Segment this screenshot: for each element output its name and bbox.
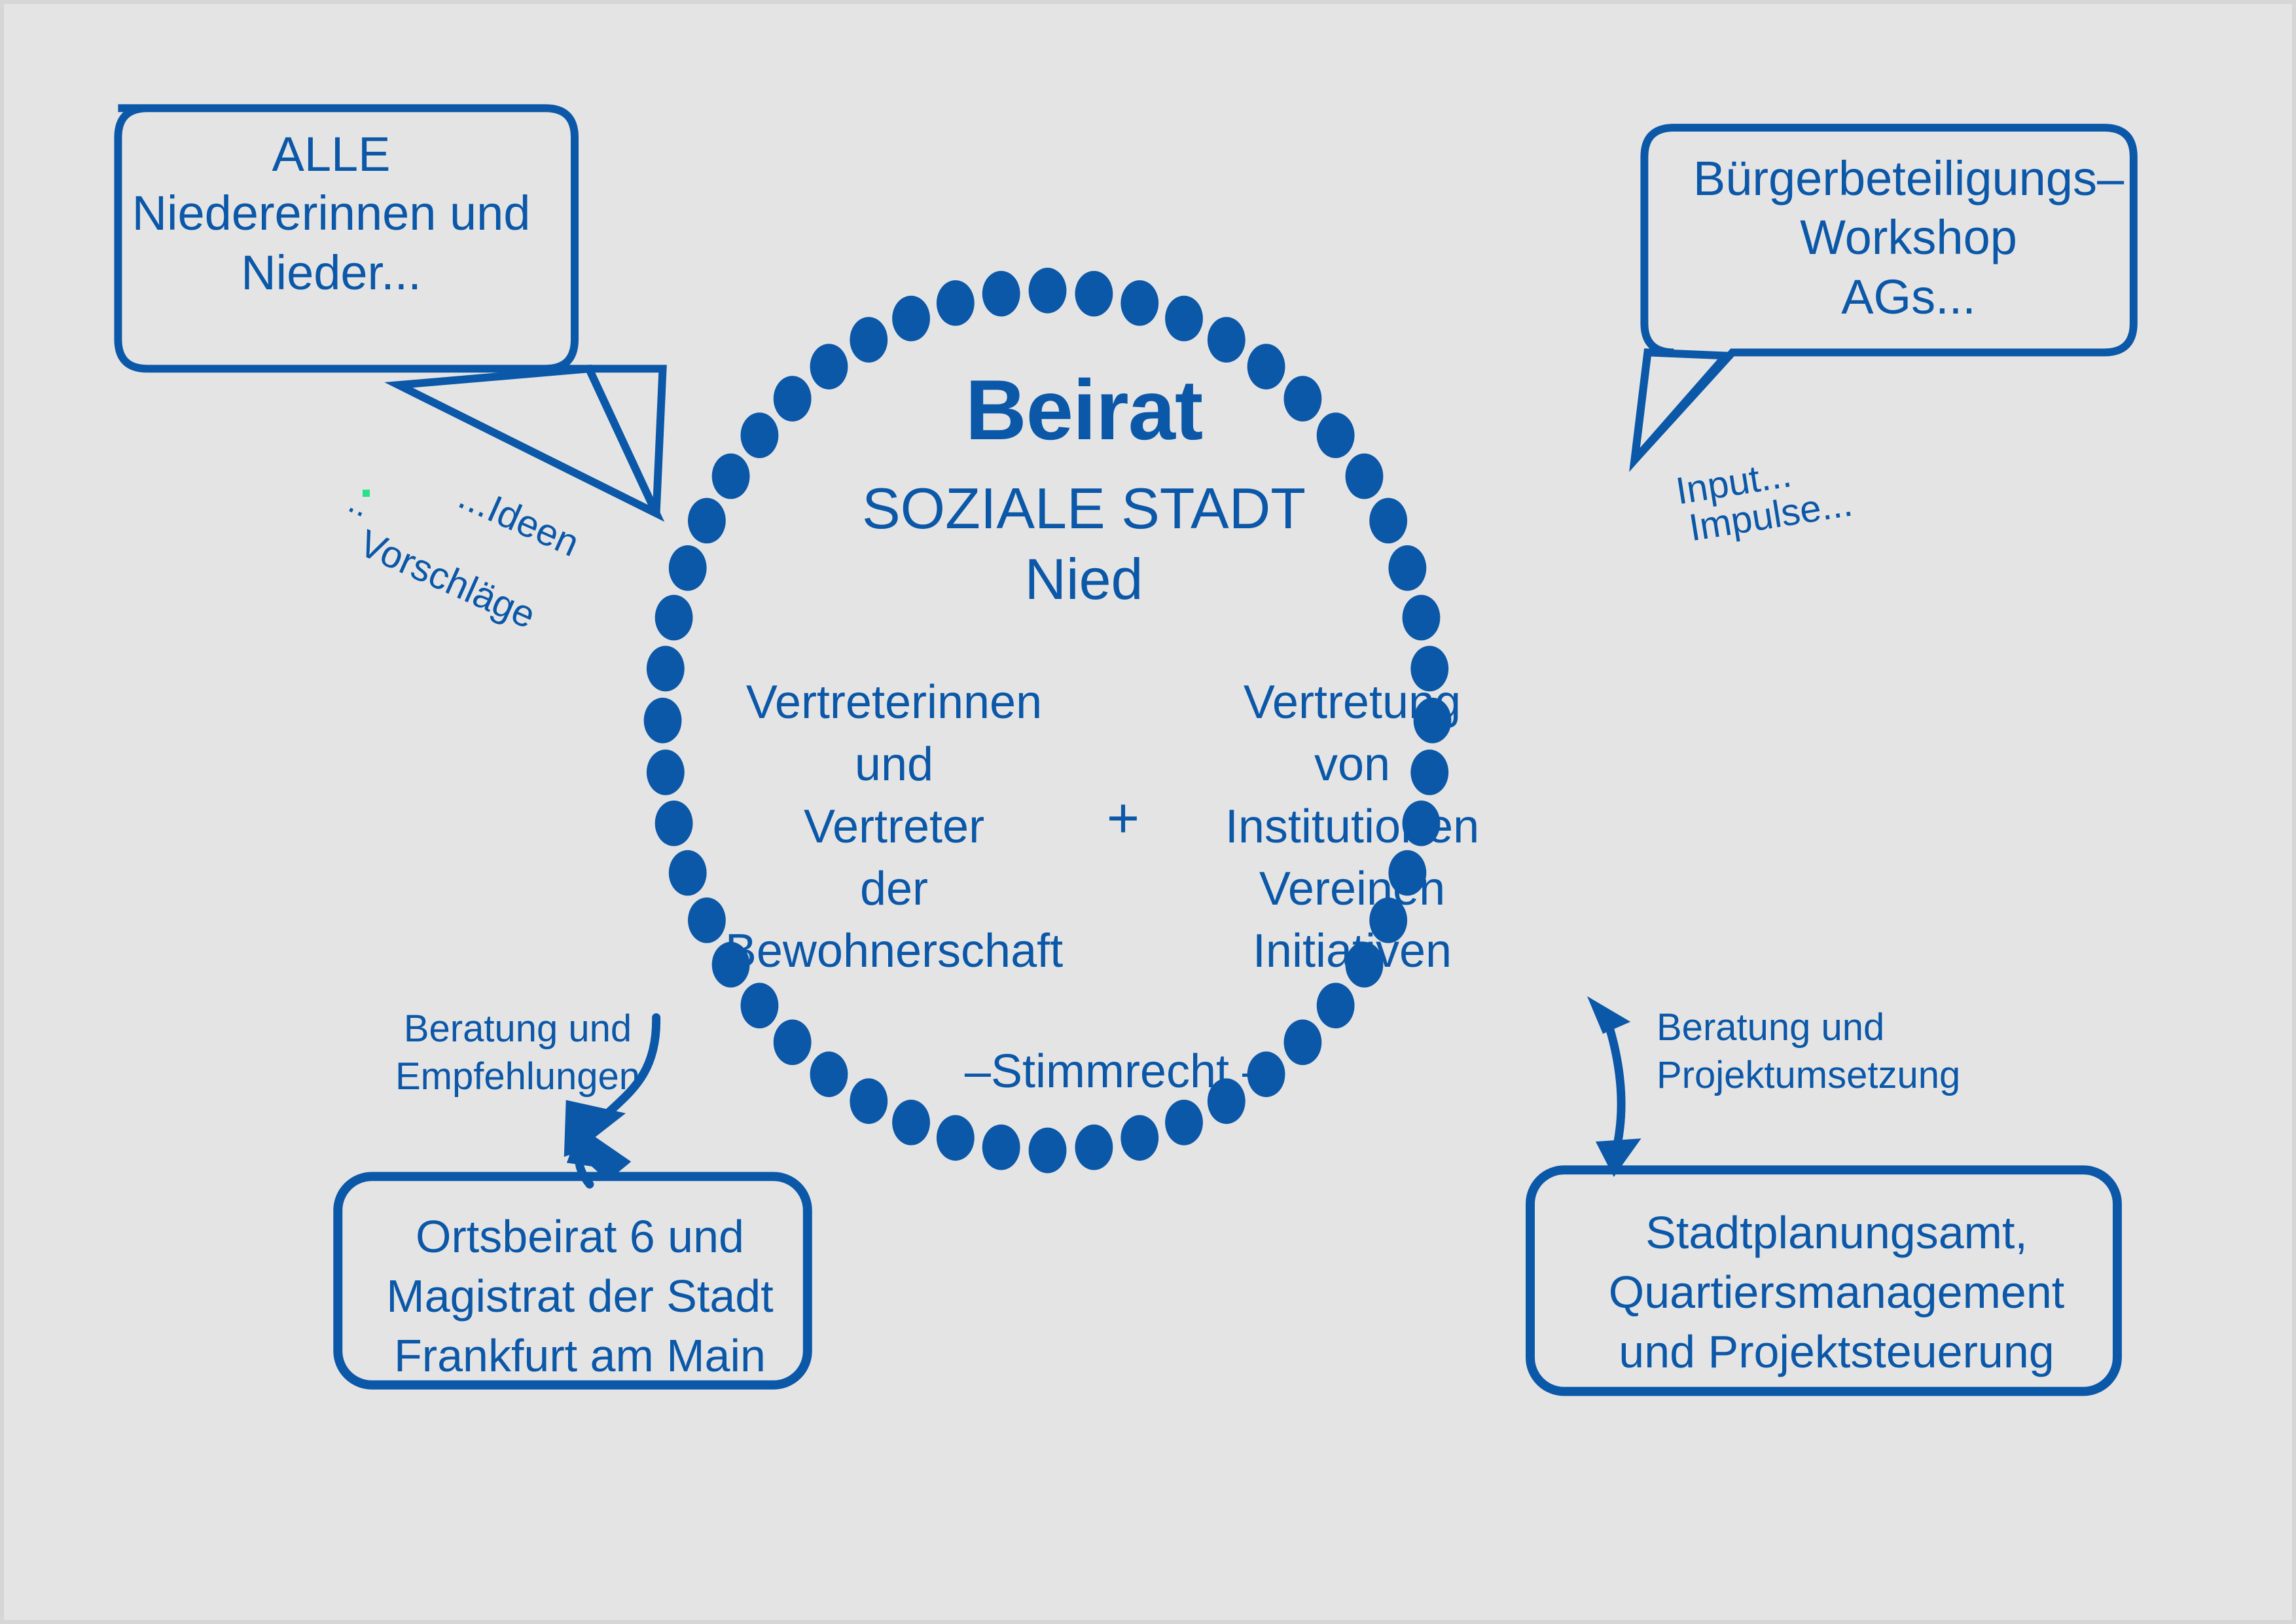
circle-dot	[741, 412, 779, 458]
circle-dot	[1029, 268, 1067, 314]
center-subtitle-line2: Nied	[789, 546, 1378, 613]
circle-dot	[741, 983, 779, 1028]
circle-dot	[655, 801, 693, 846]
stimmrecht-note: –Stimmrecht –	[907, 1045, 1326, 1100]
circle-dot	[1165, 1100, 1203, 1146]
center-column-right: Vertretung von Institutionen Vereinen In…	[1189, 672, 1516, 983]
circle-dot	[669, 850, 707, 896]
green-accent-dot	[363, 490, 370, 497]
circle-dot	[1388, 545, 1426, 591]
box-ortsbeirat-label: Ortsbeirat 6 und Magistrat der Stadt Fra…	[351, 1207, 809, 1386]
circle-dot	[644, 698, 682, 744]
circle-dot	[892, 1100, 930, 1146]
circle-dot	[655, 595, 693, 641]
circle-dot	[1029, 1128, 1067, 1174]
circle-dot	[1317, 983, 1355, 1028]
plus-operator: +	[1084, 786, 1162, 852]
circle-dot	[669, 545, 707, 591]
circle-dot	[1208, 317, 1246, 363]
circle-dot	[688, 498, 726, 544]
circle-dot	[850, 317, 888, 363]
center-subtitle-line1: SOZIALE STADT	[789, 475, 1378, 542]
arrow-caption-left: Beratung und Empfehlungen	[380, 1005, 655, 1100]
diagram-canvas: {} ALLE Niedererinnen und	[0, 0, 2296, 1624]
circle-dot	[892, 296, 930, 342]
circle-dot	[982, 1125, 1020, 1170]
center-title: Beirat	[789, 361, 1378, 460]
circle-dot	[647, 646, 685, 692]
circle-dot	[937, 1115, 975, 1161]
circle-dot	[1165, 296, 1203, 342]
bubble-top-right-label: Bürgerbeteiligungs– Workshop AGs...	[1666, 149, 2151, 327]
box-stadtplanungsamt-label: Stadtplanungsamt, Quartiersmanagement un…	[1549, 1203, 2125, 1382]
circle-dot	[647, 749, 685, 795]
side-label-ideen: ...Ideen	[452, 474, 586, 566]
circle-dot	[774, 1019, 812, 1065]
circle-dot	[1075, 271, 1113, 317]
circle-dot	[1403, 595, 1441, 641]
circle-dot	[937, 280, 975, 326]
bubble-top-left-label: ALLE Niedererinnen und Nieder...	[102, 125, 560, 302]
circle-dot	[850, 1078, 888, 1124]
side-label-left-dots: ..	[343, 482, 376, 526]
arrow-caption-right: Beratung und Projektumsetzung	[1657, 1004, 1997, 1099]
circle-dot	[982, 271, 1020, 317]
circle-dot	[1121, 280, 1158, 326]
circle-dot	[810, 1051, 848, 1097]
circle-dot	[1075, 1125, 1113, 1170]
arrow-right-double	[1587, 992, 1643, 1178]
circle-dot	[1121, 1115, 1158, 1161]
circle-dot	[712, 454, 750, 499]
center-column-left: Vertreterinnen und Vertreter der Bewohne…	[711, 672, 1077, 983]
